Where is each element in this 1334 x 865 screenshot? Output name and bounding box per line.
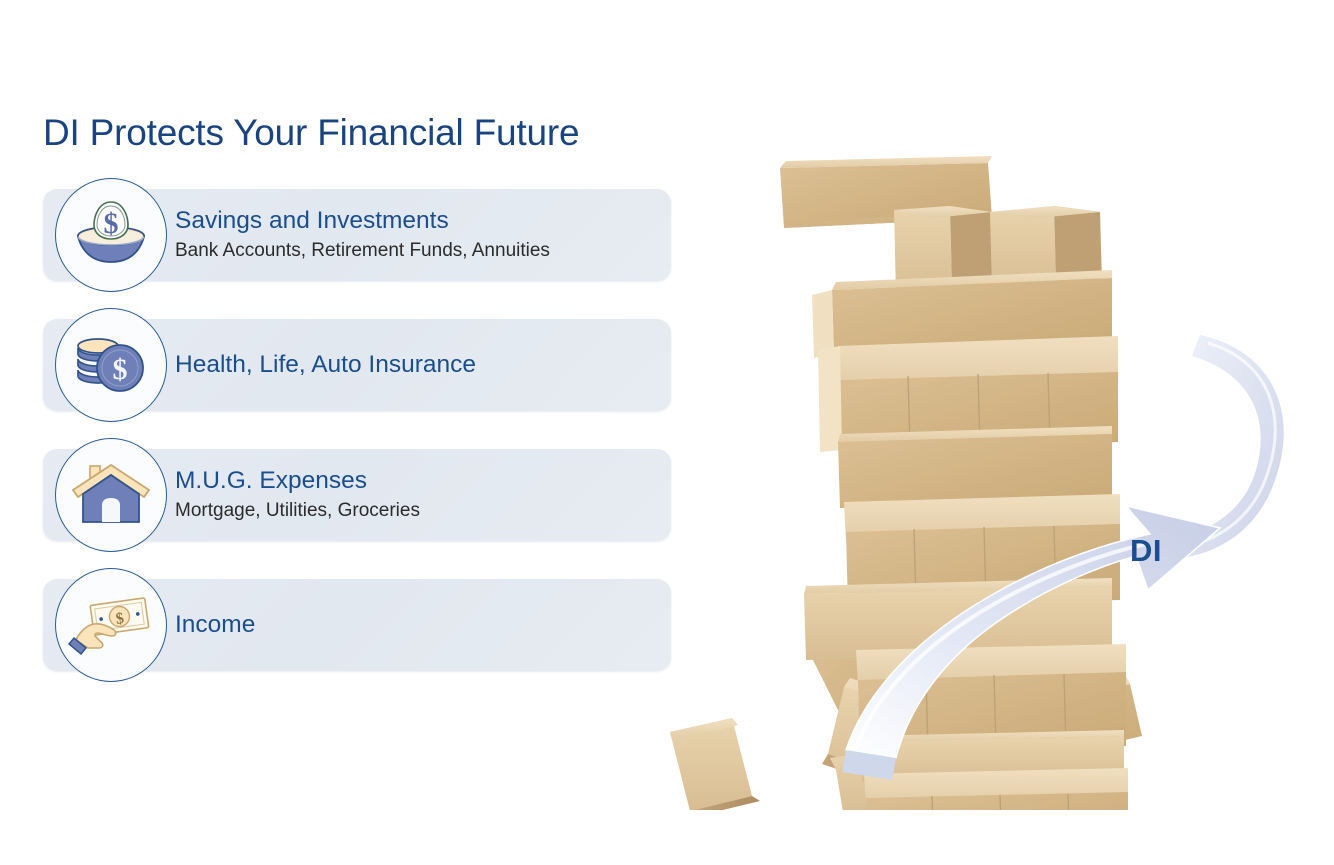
feature-text-group: Income [175,579,255,671]
feature-text-group: Health, Life, Auto Insurance [175,319,476,411]
nest-egg-icon: $ [55,178,167,292]
feature-title: Savings and Investments [175,207,550,236]
feature-title: Health, Life, Auto Insurance [175,351,476,380]
di-arrow-label: DI [1130,533,1162,569]
feature-row-savings[interactable]: $ Savings and Investments Bank Accounts,… [43,189,673,281]
svg-text:$: $ [113,353,128,386]
feature-subtitle: Mortgage, Utilities, Groceries [175,498,420,524]
feature-text-group: M.U.G. Expenses Mortgage, Utilities, Gro… [175,449,420,541]
feature-title: Income [175,611,255,640]
tower-block-row [864,768,1128,810]
feature-row-income[interactable]: $ Income [43,579,673,671]
coin-stack-icon: $ [55,308,167,422]
house-icon [55,438,167,552]
jenga-tower-svg [660,150,1334,810]
feature-row-mug-expenses[interactable]: M.U.G. Expenses Mortgage, Utilities, Gro… [43,449,673,541]
jenga-tower-illustration: DI [660,150,1334,810]
feature-text-group: Savings and Investments Bank Accounts, R… [175,189,550,281]
left-content-panel: DI Protects Your Financial Future $ [0,0,700,865]
feature-list: $ Savings and Investments Bank Accounts,… [43,189,673,709]
feature-subtitle: Bank Accounts, Retirement Funds, Annuiti… [175,238,550,264]
feature-title: M.U.G. Expenses [175,467,420,496]
svg-text:$: $ [104,207,119,240]
feature-row-insurance[interactable]: $ Health, Life, Auto Insurance [43,319,673,411]
page-title: DI Protects Your Financial Future [43,112,579,154]
fallen-block [670,718,760,810]
tower-blocks-group [780,156,1128,810]
hand-holding-cash-icon: $ [55,568,167,682]
